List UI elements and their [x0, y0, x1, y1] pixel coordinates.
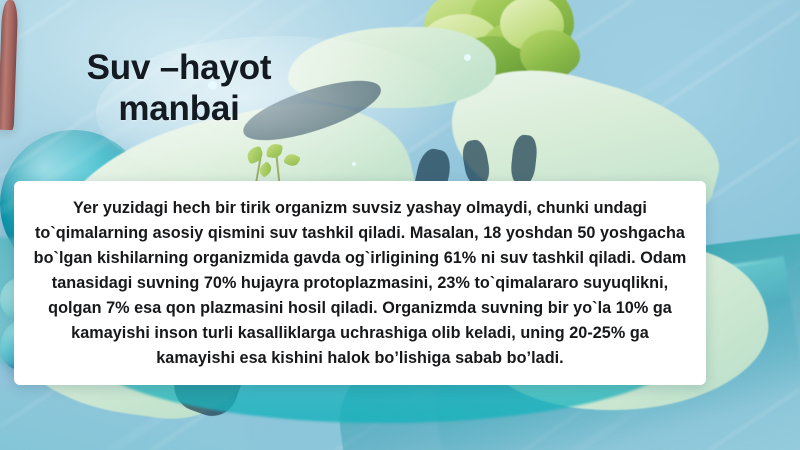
sprout-leaf: [245, 146, 265, 165]
tree-trunk: [0, 0, 18, 130]
slide-canvas: Suv –hayot manbai Yer yuzidagi hech bir …: [0, 0, 800, 450]
droplet-bubble: [352, 162, 356, 166]
sprout-leaf: [283, 152, 301, 169]
sprout-leaf: [266, 143, 283, 159]
body-text-card: Yer yuzidagi hech bir tirik organizm suv…: [14, 181, 706, 385]
slide-title: Suv –hayot manbai: [34, 47, 324, 130]
body-paragraph: Yer yuzidagi hech bir tirik organizm suv…: [32, 196, 688, 371]
droplet-bubble: [464, 54, 471, 61]
